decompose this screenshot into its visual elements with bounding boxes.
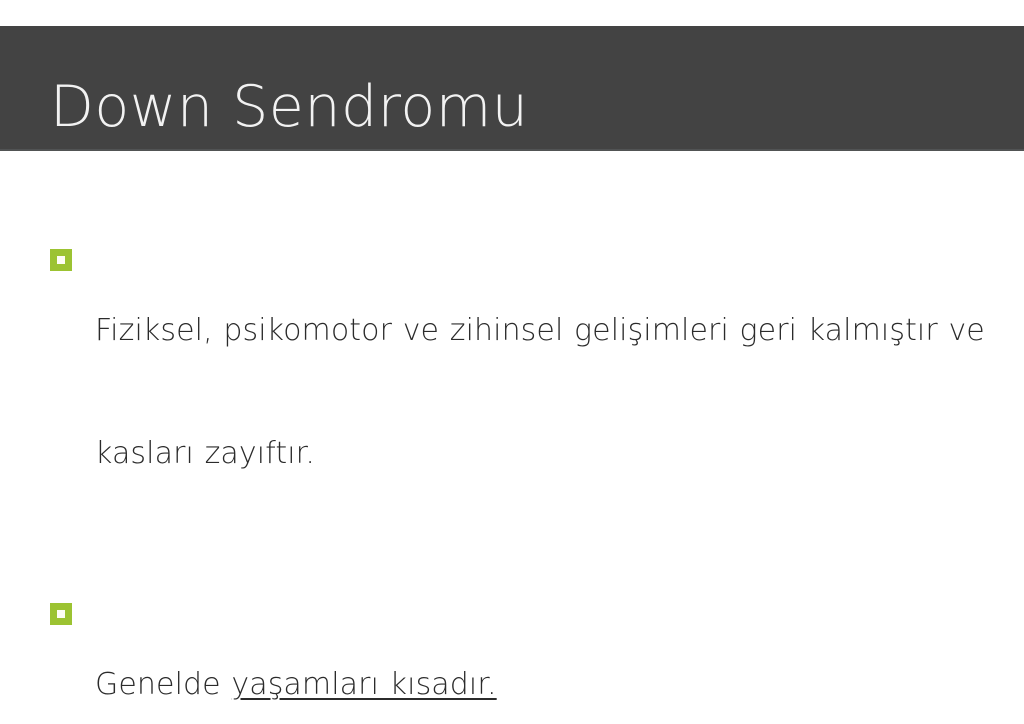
list-item-text: Genelde yaşamları kısadır. — [95, 582, 1024, 724]
list-item-underlined-text: yaşamları kısadır. — [231, 667, 496, 702]
bullet-list: Fiziksel, psikomotor ve zihinsel gelişim… — [0, 228, 1024, 724]
list-item-text: Fiziksel, psikomotor ve zihinsel gelişim… — [95, 228, 1024, 556]
presentation-slide: Down Sendromu Fiziksel, psikomotor ve zi… — [0, 0, 1024, 724]
list-item: Fiziksel, psikomotor ve zihinsel gelişim… — [0, 228, 1024, 556]
page-title: Down Sendromu — [50, 76, 528, 138]
square-bullet-inner — [57, 256, 65, 264]
list-item-line: kasları zayıftır. — [95, 433, 1024, 474]
slide-title-bar: Down Sendromu — [0, 26, 1024, 151]
list-item-lead-text: Genelde — [95, 667, 231, 702]
square-bullet-inner — [57, 610, 65, 618]
list-item-line: Fiziksel, psikomotor ve zihinsel gelişim… — [95, 310, 1024, 351]
list-item-line: Genelde yaşamları kısadır. — [95, 664, 1024, 705]
list-item: Genelde yaşamları kısadır. — [0, 582, 1024, 724]
square-bullet-icon — [50, 249, 72, 271]
square-bullet-icon — [50, 603, 72, 625]
